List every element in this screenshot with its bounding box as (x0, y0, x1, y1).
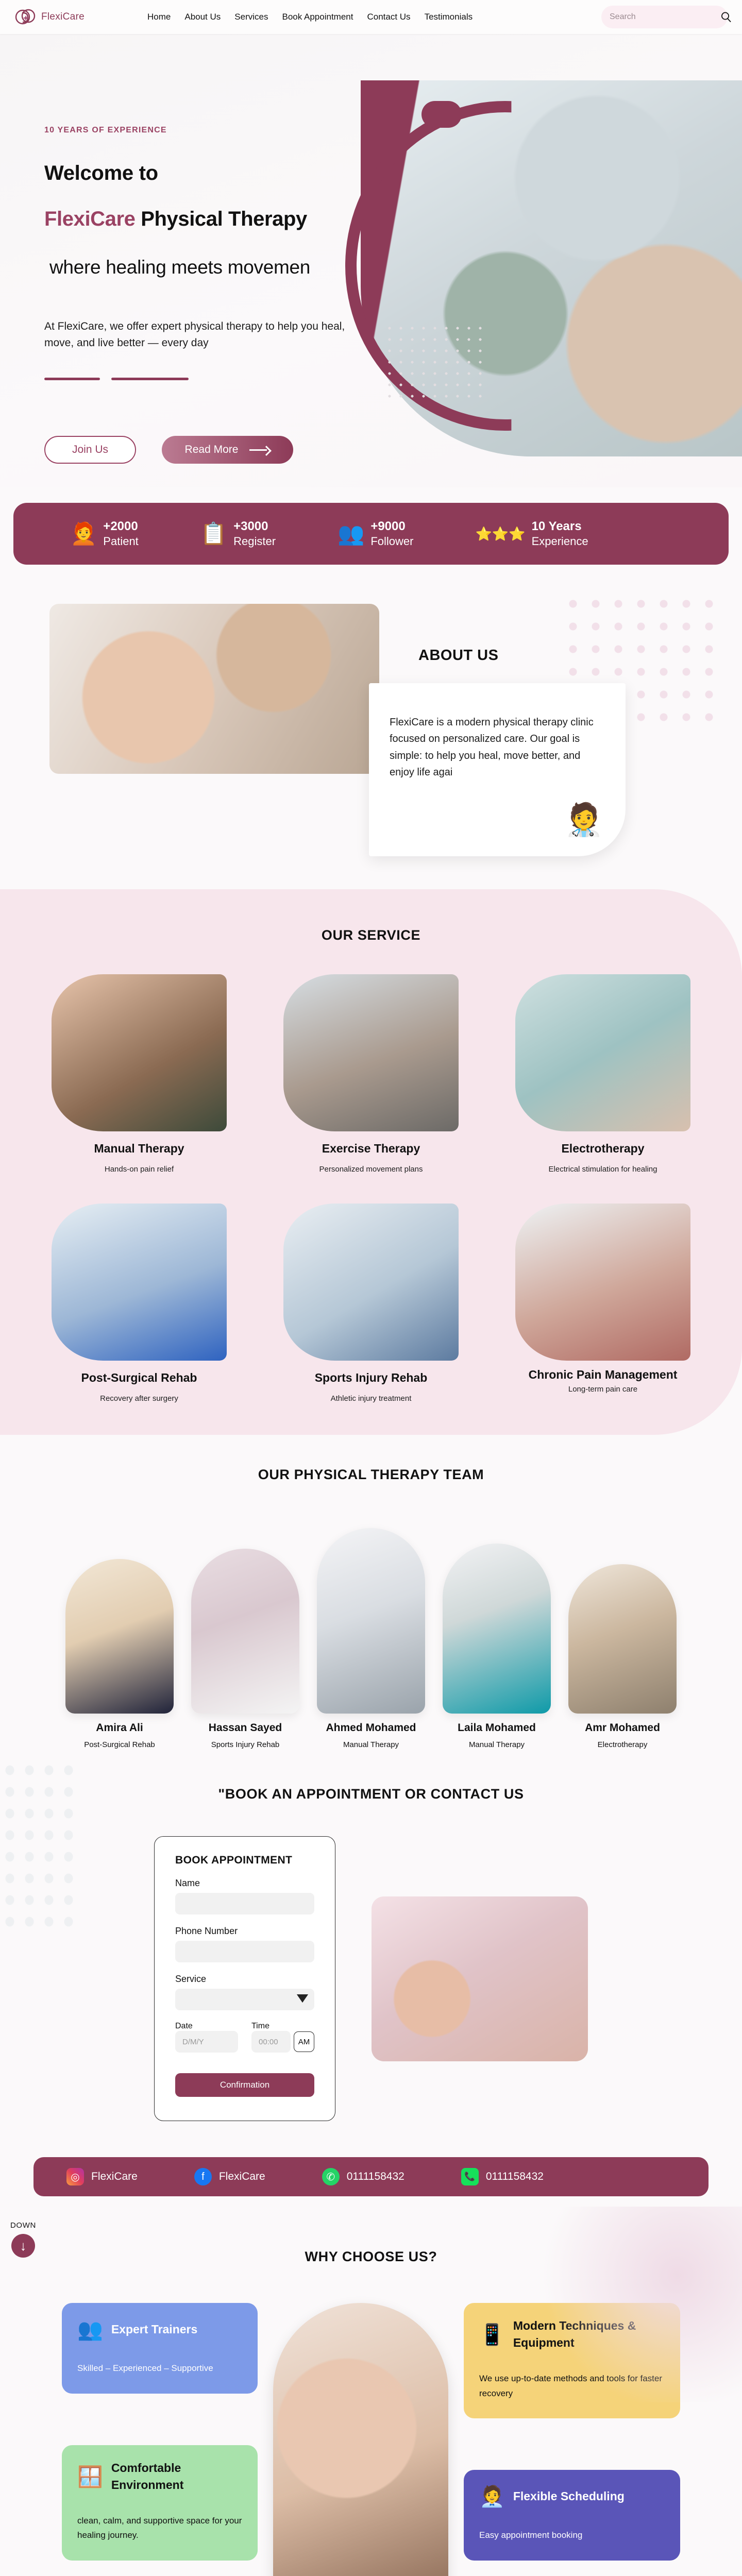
why-card-title: Flexible Scheduling (513, 2488, 625, 2505)
team-title: OUR PHYSICAL THERAPY TEAM (0, 1467, 742, 1483)
service-desc: Athletic injury treatment (283, 1394, 459, 1403)
social-whatsapp[interactable]: ✆ 0111158432 (322, 2168, 404, 2185)
stat-label: Follower (370, 534, 413, 549)
nav-links: Home About Us Services Book Appointment … (147, 12, 473, 22)
member-role: Sports Injury Rehab (191, 1740, 299, 1749)
service-name: Electrotherapy (515, 1142, 690, 1156)
phone-input[interactable] (175, 1941, 314, 1962)
nav-item-about-us[interactable]: About Us (184, 12, 221, 22)
hero-title-line3: where healing meets movemen (44, 257, 415, 278)
read-more-label: Read More (185, 444, 239, 456)
about-card: FlexiCare is a modern physical therapy c… (369, 683, 626, 856)
team-member[interactable]: Amr Mohamed Electrotherapy (568, 1564, 677, 1749)
hero-paragraph: At FlexiCare, we offer expert physical t… (44, 318, 353, 351)
time-field-group: Time AM (251, 2022, 314, 2053)
booking-dot-pattern (0, 1759, 77, 1929)
stat-patient: 🧑‍🦰 +2000 Patient (70, 519, 139, 549)
about-title: ABOUT US (418, 647, 498, 664)
about-section: ABOUT US FlexiCare is a modern physical … (0, 592, 742, 881)
booking-row: BOOK APPOINTMENT Name Phone Number Servi… (0, 1836, 742, 2121)
arrow-down-icon[interactable]: ↓ (11, 2234, 35, 2258)
service-desc: Personalized movement plans (283, 1165, 459, 1174)
nav-item-book-appointment[interactable]: Book Appointment (282, 12, 353, 22)
phone-label: Phone Number (175, 1926, 314, 1937)
name-label: Name (175, 1878, 314, 1889)
member-role: Electrotherapy (568, 1740, 677, 1749)
patient-icon: 🧑‍🦰 (70, 523, 97, 545)
service-card[interactable]: Chronic Pain Management Long-term pain c… (515, 1204, 690, 1403)
booking-form: BOOK APPOINTMENT Name Phone Number Servi… (154, 1836, 335, 2121)
stat-number: +3000 (233, 519, 276, 534)
join-us-button[interactable]: Join Us (44, 436, 136, 464)
why-left-column: 👥 Expert Trainers Skilled – Experienced … (62, 2303, 258, 2561)
stat-experience: ⭐⭐⭐ 10 Years Experience (475, 519, 588, 549)
team-member[interactable]: Hassan Sayed Sports Injury Rehab (191, 1549, 299, 1749)
social-label: FlexiCare (219, 2171, 265, 2183)
scroll-down-label: DOWN (10, 2221, 36, 2230)
member-role: Manual Therapy (443, 1740, 551, 1749)
stat-label: Register (233, 534, 276, 549)
member-name: Hassan Sayed (191, 1722, 299, 1734)
social-instagram[interactable]: ◎ FlexiCare (66, 2168, 138, 2185)
stat-number: +9000 (370, 519, 413, 534)
time-label: Time (251, 2022, 269, 2030)
service-card[interactable]: Electrotherapy Electrical stimulation fo… (515, 974, 690, 1174)
phone-icon: 📞 (461, 2168, 479, 2185)
arrow-right-icon (249, 446, 270, 454)
services-title: OUR SERVICE (0, 927, 742, 943)
date-field-group: Date (175, 2022, 238, 2053)
search-icon[interactable] (720, 11, 732, 23)
service-desc: Electrical stimulation for healing (515, 1165, 690, 1174)
search-input[interactable] (610, 12, 716, 22)
why-card-body: Skilled – Experienced – Supportive (77, 2361, 242, 2376)
facebook-icon: f (194, 2168, 212, 2185)
brand-logo[interactable]: FlexiCare (14, 6, 143, 28)
team-row: Amira Ali Post-Surgical Rehab Hassan Say… (0, 1528, 742, 1749)
stat-follower: 👥 +9000 Follower (338, 519, 413, 549)
name-input[interactable] (175, 1893, 314, 1914)
service-image (283, 974, 459, 1131)
follower-icon: 👥 (338, 523, 364, 545)
why-card-expert-trainers: 👥 Expert Trainers Skilled – Experienced … (62, 2303, 258, 2394)
social-contact-bar: ◎ FlexiCare f FlexiCare ✆ 0111158432 📞 0… (33, 2157, 709, 2196)
why-card-body: clean, calm, and supportive space for yo… (77, 2514, 242, 2544)
stat-label: Patient (103, 534, 139, 549)
member-name: Laila Mohamed (443, 1722, 551, 1734)
instagram-icon: ◎ (66, 2168, 84, 2185)
member-name: Amira Ali (65, 1722, 174, 1734)
stats-bar: 🧑‍🦰 +2000 Patient 📋 +3000 Register 👥 +90… (13, 503, 729, 565)
read-more-button[interactable]: Read More (162, 436, 293, 464)
why-photo (273, 2303, 448, 2576)
service-card[interactable]: Sports Injury Rehab Athletic injury trea… (283, 1204, 459, 1403)
services-grid: Manual Therapy Hands-on pain relief Exer… (0, 974, 742, 1403)
confirmation-button[interactable]: Confirmation (175, 2073, 314, 2097)
search-box[interactable] (601, 6, 728, 28)
social-label: 0111158432 (347, 2171, 404, 2183)
service-card[interactable]: Post-Surgical Rehab Recovery after surge… (52, 1204, 227, 1403)
hero-divider-rules (44, 378, 415, 380)
social-label: FlexiCare (91, 2171, 138, 2183)
why-choose-us-section: DOWN ↓ WHY CHOOSE US? 👥 Expert Trainers … (0, 2207, 742, 2576)
service-desc: Long-term pain care (515, 1385, 690, 1394)
team-member[interactable]: Ahmed Mohamed Manual Therapy (317, 1528, 425, 1749)
hero-content: 10 YEARS OF EXPERIENCE Welcome to FlexiC… (44, 126, 415, 464)
hero-eyebrow: 10 YEARS OF EXPERIENCE (44, 126, 415, 135)
why-card-flexible-scheduling: 🧑‍💼 Flexible Scheduling Easy appointment… (464, 2470, 680, 2561)
window-icon: 🪟 (77, 2465, 103, 2489)
service-image (52, 1204, 227, 1361)
service-image (515, 1204, 690, 1361)
nav-item-services[interactable]: Services (234, 12, 268, 22)
service-card[interactable]: Exercise Therapy Personalized movement p… (283, 974, 459, 1174)
hero-title-rest: Physical Therapy (136, 208, 307, 230)
navbar: FlexiCare Home About Us Services Book Ap… (0, 0, 742, 34)
service-desc: Hands-on pain relief (52, 1165, 227, 1174)
service-image (283, 1204, 459, 1361)
nav-item-home[interactable]: Home (147, 12, 171, 22)
nav-item-contact-us[interactable]: Contact Us (367, 12, 410, 22)
why-card-comfortable-environment: 🪟 Comfortable Environment clean, calm, a… (62, 2445, 258, 2561)
whatsapp-icon: ✆ (322, 2168, 340, 2185)
experience-stars-icon: ⭐⭐⭐ (475, 527, 525, 540)
brand-name: FlexiCare (41, 11, 85, 23)
name-field-group: Name (175, 1878, 314, 1914)
member-photo (443, 1544, 551, 1714)
date-label: Date (175, 2022, 193, 2030)
booking-form-title: BOOK APPOINTMENT (175, 1854, 314, 1867)
date-input[interactable] (175, 2031, 238, 2053)
member-name: Ahmed Mohamed (317, 1722, 425, 1734)
hero-title-line2: FlexiCare Physical Therapy (44, 208, 415, 231)
hero-title-accent: FlexiCare (44, 208, 136, 230)
service-name: Sports Injury Rehab (283, 1371, 459, 1385)
services-section: OUR SERVICE Manual Therapy Hands-on pain… (0, 889, 742, 1435)
service-image (515, 974, 690, 1131)
stat-number: +2000 (103, 519, 139, 534)
service-name: Exercise Therapy (283, 1142, 459, 1156)
stat-number: 10 Years (532, 519, 588, 534)
team-member[interactable]: Amira Ali Post-Surgical Rehab (65, 1559, 174, 1749)
scroll-down-control[interactable]: DOWN ↓ (10, 2221, 36, 2258)
chevron-down-icon[interactable] (298, 1995, 307, 2002)
booking-section: "BOOK AN APPOINTMENT OR CONTACT US BOOK … (0, 1754, 742, 2207)
member-name: Amr Mohamed (568, 1722, 677, 1734)
service-name: Manual Therapy (52, 1142, 227, 1156)
why-card-title: Comfortable Environment (111, 2460, 242, 2494)
member-photo (65, 1559, 174, 1714)
nav-item-testimonials[interactable]: Testimonials (425, 12, 473, 22)
flexicare-logo-icon (14, 6, 37, 28)
about-photo (49, 604, 379, 774)
service-image (52, 974, 227, 1131)
member-photo (317, 1528, 425, 1714)
member-photo (191, 1549, 299, 1714)
schedule-icon: 🧑‍💼 (479, 2484, 505, 2509)
register-icon: 📋 (200, 523, 227, 545)
about-body: FlexiCare is a modern physical therapy c… (390, 714, 604, 781)
service-card[interactable]: Manual Therapy Hands-on pain relief (52, 974, 227, 1174)
why-background-blur (526, 2207, 742, 2402)
service-name: Post-Surgical Rehab (52, 1371, 227, 1385)
stat-register: 📋 +3000 Register (200, 519, 276, 549)
team-section: OUR PHYSICAL THERAPY TEAM Amira Ali Post… (0, 1435, 742, 1754)
why-card-title: Expert Trainers (111, 2321, 197, 2338)
service-label: Service (175, 1974, 314, 1985)
member-role: Manual Therapy (317, 1740, 425, 1749)
hero-title-line1: Welcome to (44, 162, 415, 185)
service-select[interactable] (175, 1989, 314, 2010)
social-facebook[interactable]: f FlexiCare (194, 2168, 265, 2185)
date-time-row: Date Time AM (175, 2022, 314, 2053)
booking-photo (372, 1896, 588, 2061)
device-icon: 📱 (479, 2323, 505, 2347)
therapy-illustration-icon: 🧑‍⚕️ (564, 801, 604, 839)
member-photo (568, 1564, 677, 1714)
hero-section: 10 YEARS OF EXPERIENCE Welcome to FlexiC… (0, 34, 742, 487)
social-label: 0111158432 (486, 2171, 544, 2183)
ampm-toggle[interactable]: AM (294, 2031, 314, 2052)
hero-buttons: Join Us Read More (44, 436, 415, 464)
time-input[interactable] (251, 2031, 291, 2053)
service-desc: Recovery after surgery (52, 1394, 227, 1403)
page-root: FlexiCare Home About Us Services Book Ap… (0, 0, 742, 2576)
stat-label: Experience (532, 534, 588, 549)
booking-title: "BOOK AN APPOINTMENT OR CONTACT US (0, 1786, 742, 1802)
member-role: Post-Surgical Rehab (65, 1740, 174, 1749)
phone-field-group: Phone Number (175, 1926, 314, 1962)
social-phone[interactable]: 📞 0111158432 (461, 2168, 544, 2185)
service-field-group: Service (175, 1974, 314, 2010)
why-card-body: Easy appointment booking (479, 2528, 665, 2543)
hero-pill-decoration (421, 101, 462, 128)
people-icon: 👥 (77, 2317, 103, 2342)
team-member[interactable]: Laila Mohamed Manual Therapy (443, 1544, 551, 1749)
service-name: Chronic Pain Management (515, 1368, 690, 1382)
